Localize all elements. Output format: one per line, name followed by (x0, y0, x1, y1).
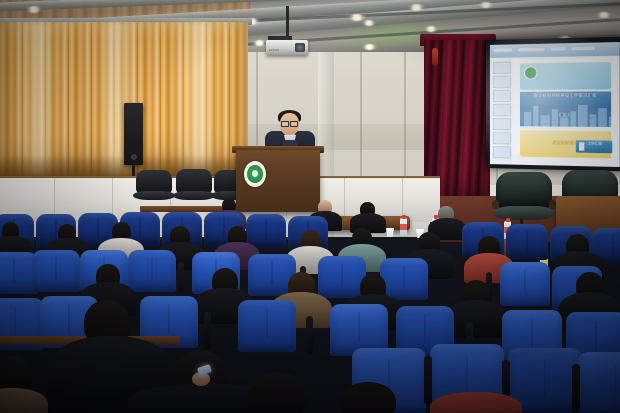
paper-cup (386, 228, 394, 237)
auditorium-seat[interactable] (246, 214, 286, 248)
auditorium-seat[interactable] (128, 250, 176, 292)
pa-speaker-cabinet (124, 103, 143, 165)
seat-armrest (204, 312, 211, 350)
downlight (408, 4, 425, 11)
seat-armrest (572, 364, 580, 412)
projected-image: 数字校园网络建设工作情况汇报 汇报人 建设成果展示 工作汇报 (490, 42, 620, 167)
ceiling-projector: EPSON (266, 40, 308, 55)
slide-badge: 工作汇报 (576, 140, 612, 153)
downlight (26, 6, 42, 13)
auditorium-seat[interactable] (380, 258, 428, 300)
downlight (478, 2, 494, 8)
audience-shoulders (430, 392, 522, 413)
downlight (596, 12, 612, 18)
auditorium-seat[interactable] (238, 300, 296, 352)
curtain-tieback (432, 48, 438, 66)
water-bottle (400, 218, 407, 236)
auditorium-seat[interactable] (506, 224, 548, 260)
panel-chair (176, 169, 212, 204)
presenter-glasses-icon (281, 121, 298, 125)
school-crest-icon (244, 161, 266, 187)
downlight (362, 20, 376, 26)
slide-logo-icon (524, 66, 537, 79)
downlight (424, 26, 438, 32)
audience-head (248, 372, 306, 413)
slide-title: 数字校园网络建设工作情况汇报 (520, 92, 611, 98)
presentation-app-toolbar (490, 42, 620, 58)
audience-head (340, 382, 396, 413)
projection-screen[interactable]: 数字校园网络建设工作情况汇报 汇报人 建设成果展示 工作汇报 (486, 37, 620, 172)
auditorium-seat[interactable] (32, 250, 80, 292)
slide-subtitle: 汇报人 (520, 112, 611, 119)
projector-brand-label: EPSON (269, 49, 280, 52)
conference-hall-photo: 数字校园网络建设工作情况汇报 汇报人 建设成果展示 工作汇报 EPSON (0, 0, 620, 413)
seat-armrest (306, 316, 313, 354)
auditorium-seat[interactable] (318, 256, 366, 298)
downlight (252, 40, 267, 46)
current-slide: 数字校园网络建设工作情况汇报 汇报人 建设成果展示 工作汇报 (514, 58, 618, 157)
audience-shoulders (0, 388, 48, 413)
panel-chair (136, 170, 172, 204)
slide-thumbnail-pane[interactable] (490, 58, 512, 165)
auditorium-seat[interactable] (578, 352, 620, 413)
auditorium-seat[interactable] (500, 262, 550, 306)
projector-mount-pole (286, 6, 289, 40)
projector-lens-icon (295, 43, 305, 52)
downlight (362, 44, 377, 50)
seat-armrest (424, 356, 432, 404)
slide-badge-title: 工作汇报 (588, 141, 611, 147)
seat-armrest (178, 262, 184, 292)
